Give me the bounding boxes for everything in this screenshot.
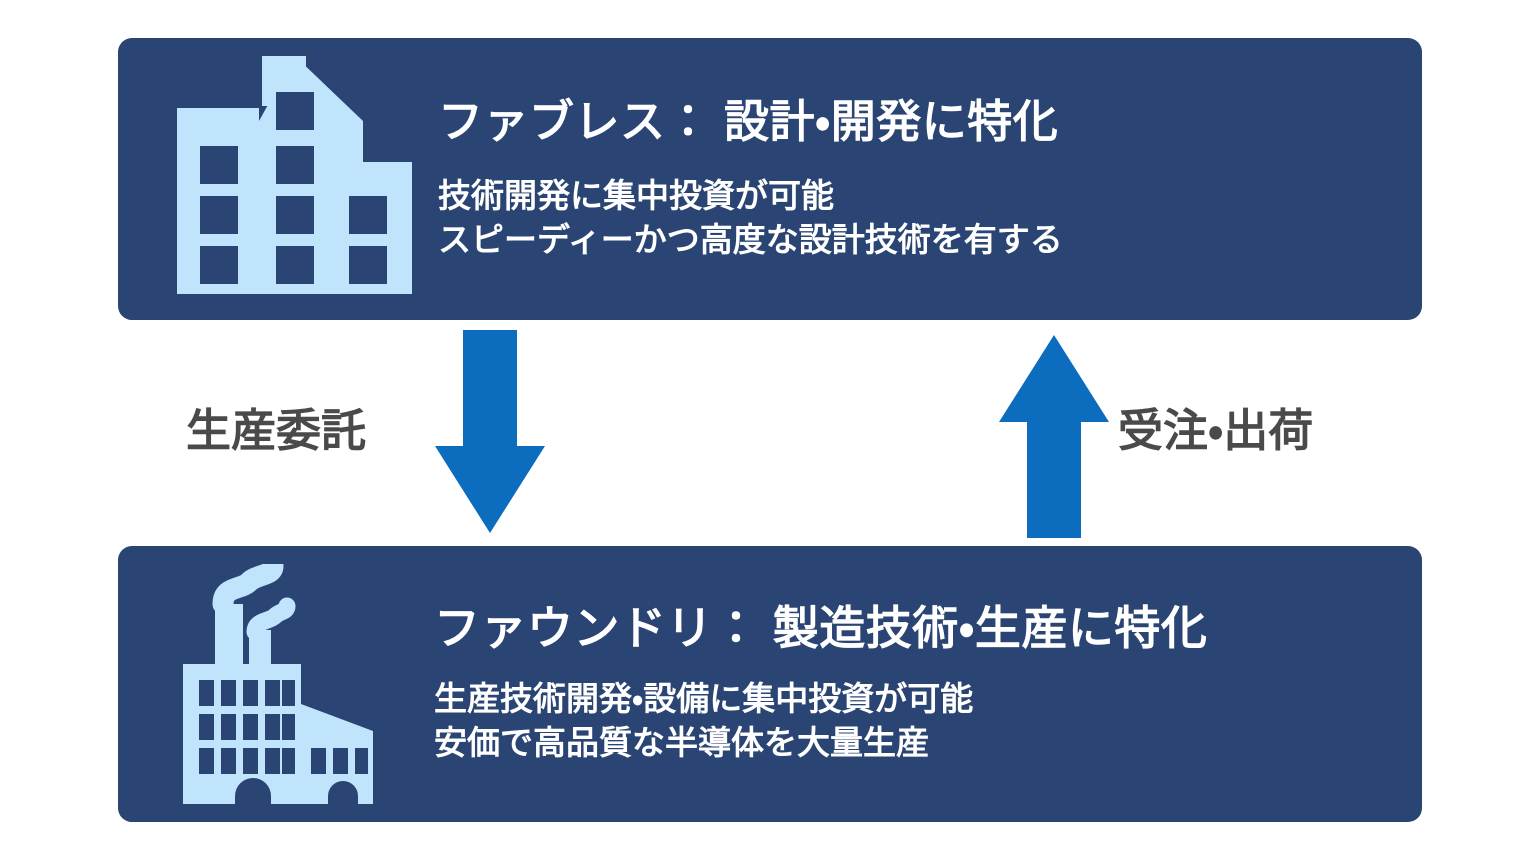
panel-foundry-text: ファウンドリ： 製造技術・生産に特化 生産技術開発・設備に集中投資が可能 安価で… xyxy=(434,602,1422,765)
office-building-icon xyxy=(174,56,412,302)
arrow-up-icon xyxy=(996,332,1112,538)
flow-order-label: 受注・出荷 xyxy=(1118,408,1313,453)
arrow-down-icon xyxy=(432,330,548,536)
panel-fabless: ファブレス： 設計・開発に特化 技術開発に集中投資が可能 スピーディーかつ高度な… xyxy=(118,38,1422,320)
panel-foundry: ファウンドリ： 製造技術・生産に特化 生産技術開発・設備に集中投資が可能 安価で… xyxy=(118,546,1422,822)
flow-consign-arrow xyxy=(432,330,548,536)
panel-fabless-icon-wrap xyxy=(118,56,438,302)
panel-fabless-text: ファブレス： 設計・開発に特化 技術開発に集中投資が可能 スピーディーかつ高度な… xyxy=(438,96,1422,262)
panel-foundry-body-line-2: 安価で高品質な半導体を大量生産 xyxy=(434,721,1402,765)
panel-fabless-body-line-1: 技術開発に集中投資が可能 xyxy=(438,174,1402,218)
flow-order-arrow xyxy=(996,332,1112,538)
panel-foundry-body-line-1: 生産技術開発・設備に集中投資が可能 xyxy=(434,677,1402,721)
panel-fabless-body-line-2: スピーディーかつ高度な設計技術を有する xyxy=(438,218,1402,262)
panel-fabless-heading: ファブレス： 設計・開発に特化 xyxy=(438,96,1402,148)
flow-consign-label: 生産委託 xyxy=(186,408,366,453)
factory-icon xyxy=(183,564,395,804)
panel-foundry-icon-wrap xyxy=(118,564,434,804)
diagram-canvas: ファブレス： 設計・開発に特化 技術開発に集中投資が可能 スピーディーかつ高度な… xyxy=(0,0,1536,864)
panel-foundry-heading: ファウンドリ： 製造技術・生産に特化 xyxy=(434,602,1402,655)
